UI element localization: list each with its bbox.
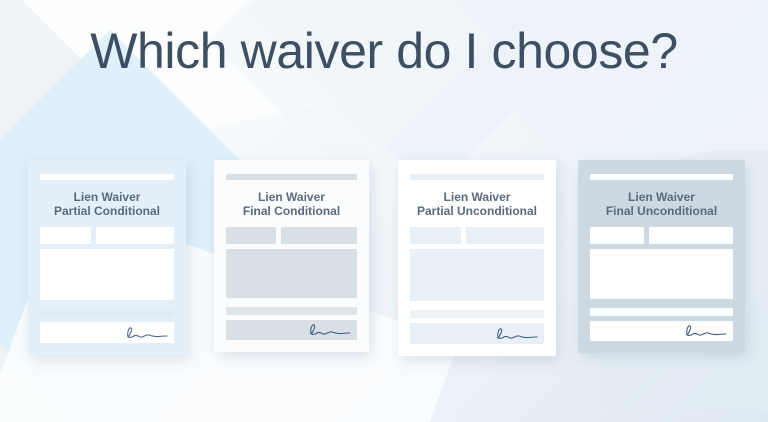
waiver-card-title: Lien Waiver Partial Conditional: [40, 190, 174, 218]
document-header-bar: [590, 174, 733, 180]
document-signature-row: [40, 322, 174, 343]
waiver-card-partial-conditional[interactable]: Lien Waiver Partial Conditional: [28, 160, 186, 355]
page-title: Which waiver do I choose?: [0, 22, 768, 80]
document-body-block: [40, 249, 174, 300]
document-field-row: [40, 227, 174, 244]
document-header-bar: [226, 174, 357, 180]
waiver-card-title: Lien Waiver Final Conditional: [226, 190, 357, 218]
document-field-row: [226, 227, 357, 244]
waiver-card-final-unconditional[interactable]: Lien Waiver Final Unconditional: [578, 160, 745, 353]
document-header-bar: [40, 174, 174, 180]
document-signature-row: [226, 320, 357, 340]
document-divider-bar: [226, 307, 357, 315]
document-body-block: [226, 249, 357, 299]
document-field-small: [40, 227, 91, 244]
document-field-row: [590, 227, 733, 244]
document-divider-bar: [410, 310, 544, 318]
document-field-large: [96, 227, 174, 244]
waiver-title-line-2: Partial Unconditional: [410, 204, 544, 218]
waiver-card-title: Lien Waiver Final Unconditional: [590, 190, 733, 218]
waiver-title-line-2: Partial Conditional: [40, 204, 174, 218]
document-field-small: [410, 227, 461, 244]
document-field-row: [410, 227, 544, 244]
document-body-block: [410, 249, 544, 301]
document-field-large: [466, 227, 544, 244]
document-body-block: [590, 249, 733, 299]
document-divider-bar: [40, 309, 174, 317]
document-divider-bar: [590, 308, 733, 316]
document-signature-row: [410, 323, 544, 344]
signature-squiggle-icon: [122, 324, 168, 342]
waiver-title-line-1: Lien Waiver: [40, 190, 174, 204]
waiver-title-line-2: Final Unconditional: [590, 204, 733, 218]
waiver-title-line-1: Lien Waiver: [410, 190, 544, 204]
signature-squiggle-icon: [305, 321, 351, 339]
waiver-title-line-1: Lien Waiver: [590, 190, 733, 204]
waiver-card-partial-unconditional[interactable]: Lien Waiver Partial Unconditional: [398, 160, 556, 356]
document-field-small: [590, 227, 644, 244]
slide-canvas: Which waiver do I choose? Lien Waiver Pa…: [0, 0, 768, 422]
waiver-card-title: Lien Waiver Partial Unconditional: [410, 190, 544, 218]
waiver-card-final-conditional[interactable]: Lien Waiver Final Conditional: [214, 160, 369, 352]
document-field-large: [649, 227, 733, 244]
waiver-card-row: Lien Waiver Partial Conditional Lien Wai…: [0, 160, 768, 370]
document-header-bar: [410, 174, 544, 180]
document-signature-row: [590, 321, 733, 341]
document-field-small: [226, 227, 276, 244]
signature-squiggle-icon: [681, 322, 727, 340]
waiver-title-line-2: Final Conditional: [226, 204, 357, 218]
signature-squiggle-icon: [492, 325, 538, 343]
document-field-large: [281, 227, 357, 244]
waiver-title-line-1: Lien Waiver: [226, 190, 357, 204]
